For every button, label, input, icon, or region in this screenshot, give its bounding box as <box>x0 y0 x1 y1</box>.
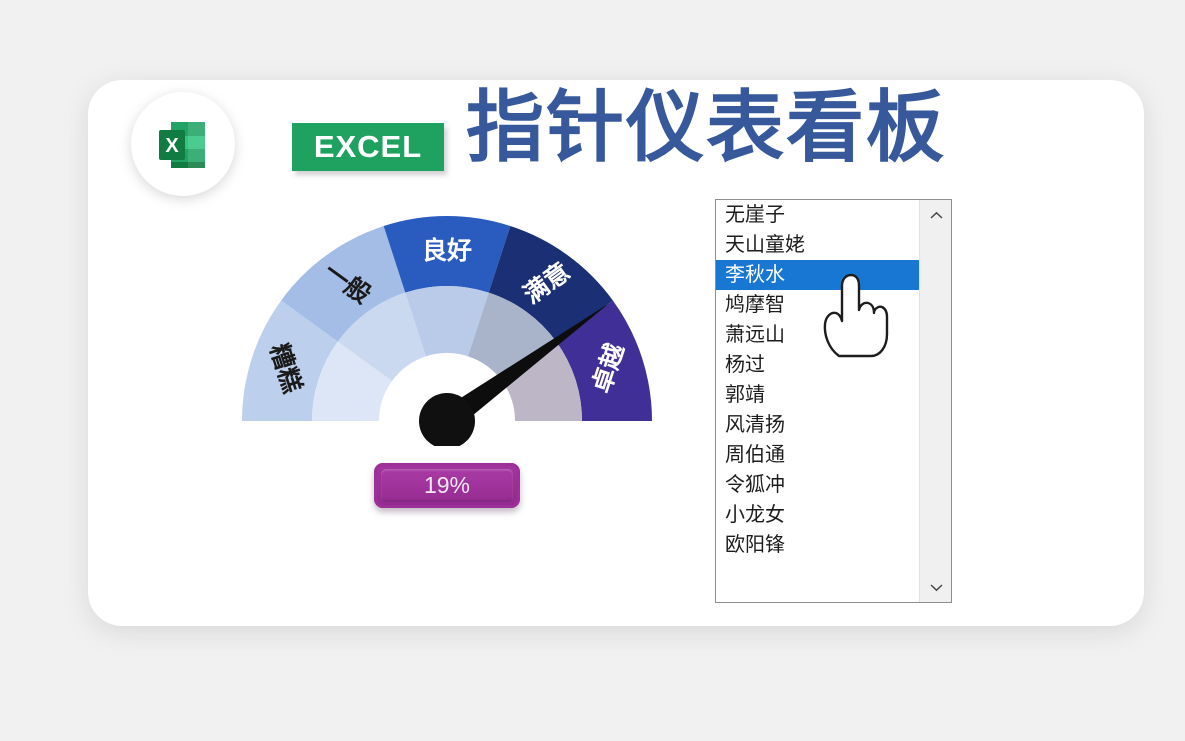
name-listbox[interactable]: 无崖子天山童姥李秋水鸠摩智萧远山杨过郭靖风清扬周伯通令狐冲小龙女欧阳锋 <box>715 199 952 603</box>
excel-text-badge: EXCEL <box>292 123 444 171</box>
list-item[interactable]: 无崖子 <box>716 200 919 230</box>
gauge-value-text: 19% <box>424 472 470 499</box>
list-item[interactable]: 李秋水 <box>716 260 925 290</box>
list-item[interactable]: 杨过 <box>716 350 919 380</box>
list-item[interactable]: 小龙女 <box>716 500 919 530</box>
chevron-up-icon[interactable] <box>920 200 952 230</box>
list-item[interactable]: 令狐冲 <box>716 470 919 500</box>
listbox-scrollbar[interactable] <box>919 200 951 602</box>
gauge-value-badge: 19% <box>374 463 520 508</box>
page-title: 指针仪表看板 <box>466 88 946 166</box>
chevron-down-icon[interactable] <box>920 572 952 602</box>
listbox-items[interactable]: 无崖子天山童姥李秋水鸠摩智萧远山杨过郭靖风清扬周伯通令狐冲小龙女欧阳锋 <box>716 200 919 602</box>
excel-icon-svg: X <box>155 116 211 172</box>
list-item[interactable]: 欧阳锋 <box>716 530 919 560</box>
chevron-up-glyph <box>930 211 943 220</box>
gauge-svg: 糟糕一般良好满意卓越 <box>222 196 672 446</box>
excel-app-logo: X <box>131 92 235 196</box>
gauge-chart: 糟糕一般良好满意卓越 <box>222 196 672 446</box>
svg-text:X: X <box>165 135 179 157</box>
list-item[interactable]: 郭靖 <box>716 380 919 410</box>
gauge-value-badge-inner: 19% <box>381 469 513 502</box>
list-item[interactable]: 风清扬 <box>716 410 919 440</box>
excel-badge-label: EXCEL <box>314 129 422 165</box>
list-item[interactable]: 萧远山 <box>716 320 919 350</box>
excel-app-icon: X <box>155 116 211 172</box>
list-item[interactable]: 周伯通 <box>716 440 919 470</box>
list-item[interactable]: 天山童姥 <box>716 230 919 260</box>
chevron-down-glyph <box>930 583 943 592</box>
screenshot-root: X EXCEL 指针仪表看板 糟糕一般良好满意卓越 19% 无崖子天山童姥李秋水… <box>0 0 1185 741</box>
gauge-segment-label-3: 良好 <box>422 236 472 265</box>
list-item[interactable]: 鸠摩智 <box>716 290 919 320</box>
